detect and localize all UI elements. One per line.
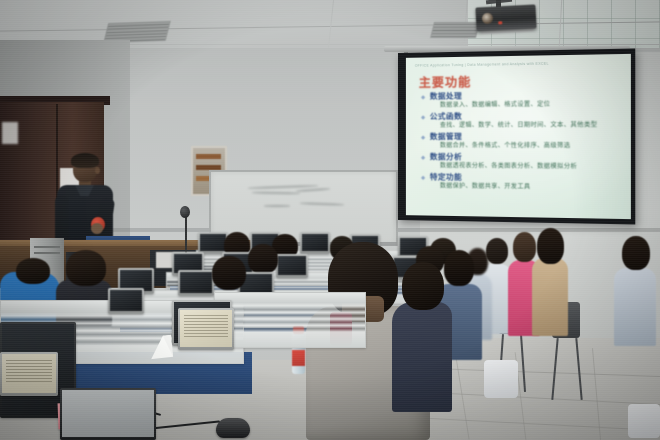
monitor [276, 254, 308, 278]
white-stool [628, 404, 660, 438]
slide-section-detail: 查找、逻辑、数学、统计、日期时间、文本、其他类型 [422, 121, 622, 131]
slide-section-detail: 数据合并、条件格式、个性化排序、高级筛选 [422, 142, 622, 152]
presenter-hand [91, 223, 103, 234]
ceiling-vent [430, 22, 480, 38]
seated-person [532, 228, 568, 336]
slide-section: 数据管理 数据合并、条件格式、个性化排序、高级筛选 [422, 132, 622, 152]
slide-section: 公式函数 查找、逻辑、数学、统计、日期时间、文本、其他类型 [422, 111, 622, 131]
presenter-ear [95, 167, 100, 174]
monitor [178, 270, 214, 296]
slide-title: 主要功能 [419, 73, 471, 91]
classroom-photo: OFFICE Application Tuning | Data Managem… [0, 0, 660, 440]
folded-paper [149, 335, 173, 359]
tower-drive-slot [34, 246, 60, 248]
monitor [0, 352, 58, 396]
slide-section: 数据分析 数据透视表分析、各类图表分析、数据模拟分析 [422, 152, 622, 173]
foreground-person-navy [392, 262, 452, 412]
ceiling-projector [475, 4, 536, 31]
projector-power-led-icon [498, 21, 502, 24]
whiteboard-writing [264, 205, 290, 207]
computer-mouse [216, 418, 250, 438]
white-stool [484, 360, 518, 398]
monitor [178, 308, 234, 350]
projection-screen: OFFICE Application Tuning | Data Managem… [398, 49, 635, 225]
slide-bullet-list: 数据处理 数据录入、数据编辑、格式设置、定位 公式函数 查找、逻辑、数学、统计、… [422, 90, 622, 195]
presenter-hair [71, 153, 99, 168]
projected-slide: OFFICE Application Tuning | Data Managem… [406, 54, 631, 219]
workstation-divider [214, 292, 366, 348]
slide-section-heading: 数据管理 [422, 132, 622, 143]
slide-section-detail: 数据录入、数据编辑、格式设置、定位 [422, 100, 622, 111]
slide-section-detail: 数据透视表分析、各类图表分析、数据模拟分析 [422, 162, 622, 173]
monitor [108, 288, 144, 314]
seated-student [212, 256, 246, 296]
projector-lens-icon [482, 13, 494, 25]
bottle-label [292, 350, 305, 366]
microphone-head-icon [180, 206, 190, 218]
posted-notice [2, 122, 18, 144]
slide-section: 数据处理 数据录入、数据编辑、格式设置、定位 [422, 90, 622, 111]
slide-section-heading: 公式函数 [422, 111, 622, 122]
slide-section-detail: 数据保护、数据共享、开发工具 [422, 182, 622, 194]
seated-person [614, 236, 656, 346]
slide-section: 特定功能 数据保护、数据共享、开发工具 [422, 172, 622, 194]
monitor-base [60, 388, 156, 440]
